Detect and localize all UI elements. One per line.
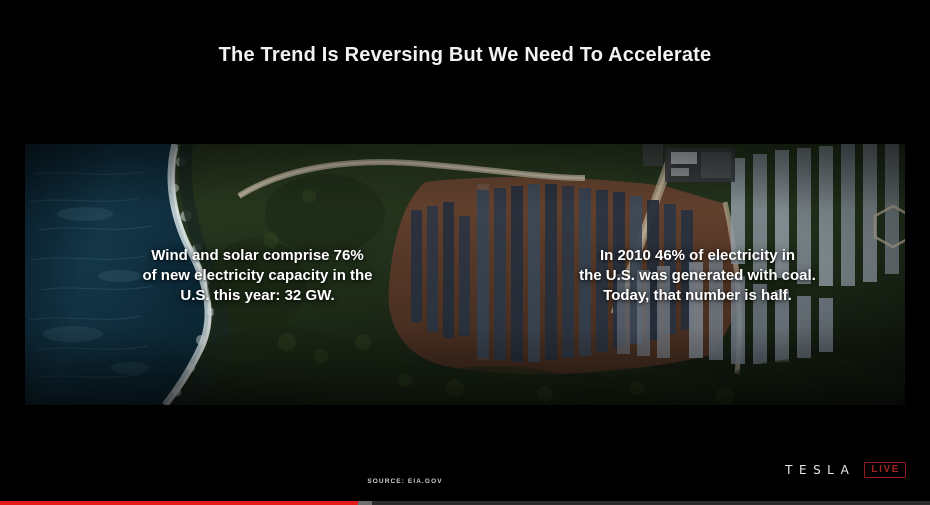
tesla-live-brand: TESLA LIVE	[785, 462, 906, 478]
source-attribution-text: SOURCE: EIA.GOV	[367, 478, 442, 485]
source-attribution: SOURCE: EIA.GOV	[0, 478, 930, 485]
presentation-slide: The Trend Is Reversing But We Need To Ac…	[0, 0, 930, 505]
overlay-stat-left: Wind and solar comprise 76% of new elect…	[120, 246, 395, 306]
page-title: The Trend Is Reversing But We Need To Ac…	[0, 44, 930, 67]
video-progress-played	[0, 501, 358, 505]
tesla-wordmark: TESLA	[785, 463, 855, 477]
overlay-stat-right: In 2010 46% of electricity in the U.S. w…	[550, 246, 845, 306]
live-badge: LIVE	[864, 462, 906, 478]
video-progress-bar[interactable]	[0, 501, 930, 505]
